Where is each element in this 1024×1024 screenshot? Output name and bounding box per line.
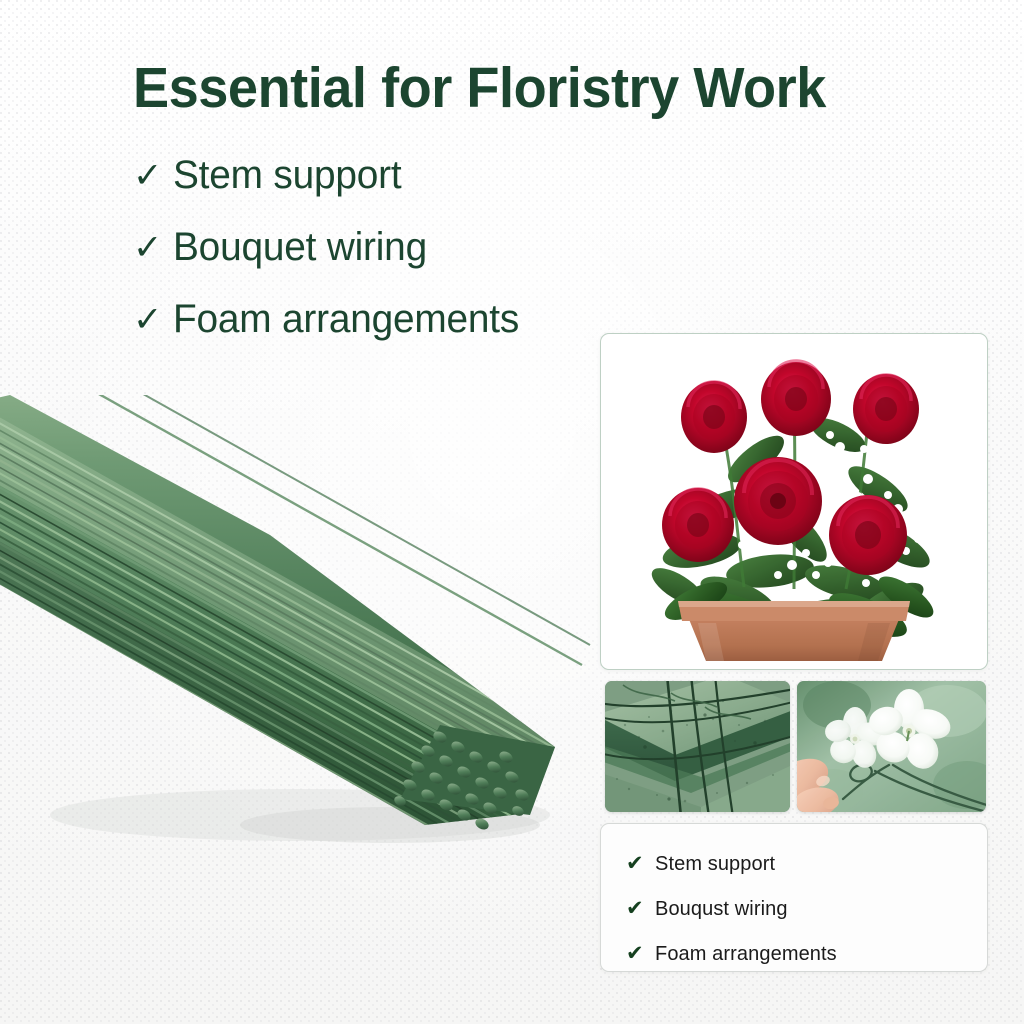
photo-floral-foam	[605, 681, 790, 812]
check-icon: ✔	[626, 898, 642, 919]
photo-rose-arrangement	[606, 339, 982, 664]
check-icon: ✓	[133, 158, 162, 193]
summary-list: ✔ Stem support ✔ Bouqust wiring ✔ Foam a…	[626, 841, 837, 972]
check-icon: ✓	[133, 302, 162, 337]
floral-foam-illustration	[605, 681, 790, 812]
jasmine-wiring-illustration	[797, 681, 986, 812]
benefit-label: Foam arrangements	[173, 299, 519, 339]
benefit-list: ✓ Stem support ✓ Bouquet wiring ✓ Foam a…	[133, 155, 653, 371]
benefit-item: ✓ Stem support	[133, 155, 653, 227]
benefit-label: Stem support	[173, 155, 401, 195]
benefit-item: ✓ Bouquet wiring	[133, 227, 653, 299]
summary-item: ✔ Bouqust wiring	[626, 886, 837, 931]
check-icon: ✓	[133, 230, 162, 265]
summary-label: Foam arrangements	[655, 944, 837, 964]
check-icon: ✔	[626, 943, 642, 964]
summary-label: Stem support	[655, 854, 775, 874]
terracotta-pot	[678, 601, 910, 661]
rose-arrangement-illustration	[606, 339, 982, 664]
gallery-card-hero	[600, 333, 988, 670]
page-title: Essential for Floristry Work	[133, 57, 893, 119]
infographic-canvas: Essential for Floristry Work ✓ Stem supp…	[0, 0, 1024, 1024]
summary-card: ✔ Stem support ✔ Bouqust wiring ✔ Foam a…	[600, 823, 988, 972]
benefit-item: ✓ Foam arrangements	[133, 299, 653, 371]
benefit-label: Bouquet wiring	[173, 227, 427, 267]
summary-item: ✔ Stem support	[626, 841, 837, 886]
check-icon: ✔	[626, 853, 642, 874]
summary-item: ✔ Foam arrangements	[626, 931, 837, 972]
summary-label: Bouqust wiring	[655, 899, 788, 919]
photo-jasmine-wiring	[797, 681, 986, 812]
